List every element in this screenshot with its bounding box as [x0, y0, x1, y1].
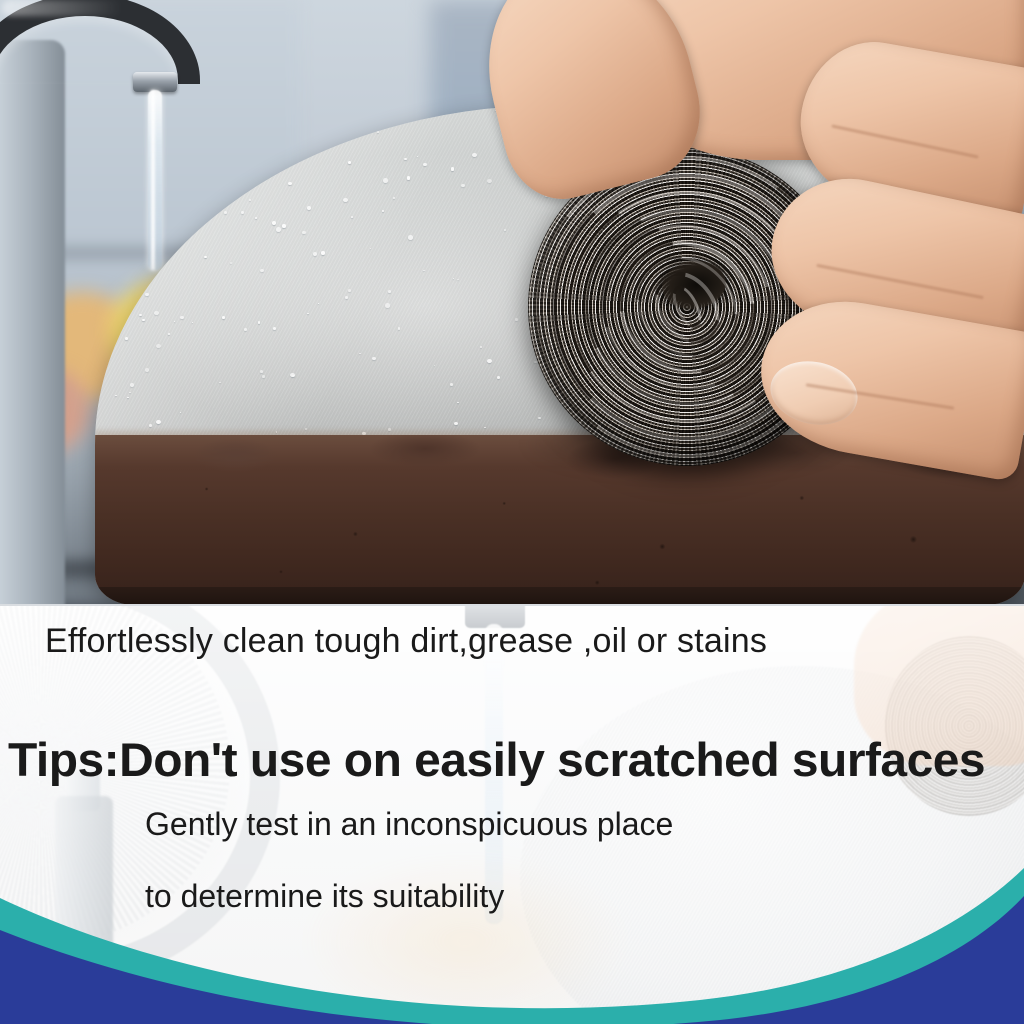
faucet-body — [0, 40, 65, 604]
benefit-text: Effortlessly clean tough dirt,grease ,oi… — [45, 622, 767, 661]
thumb — [465, 0, 715, 211]
hand-holding-scrubber — [470, 0, 1024, 510]
tips-heading-text: Tips:Don't use on easily scratched surfa… — [8, 732, 985, 787]
product-image-canvas: Effortlessly clean tough dirt,grease ,oi… — [0, 0, 1024, 1024]
faucet-spout — [133, 72, 177, 92]
product-demo-photo — [0, 0, 1024, 604]
advice-text-line-1: Gently test in an inconspicuous place — [145, 806, 673, 843]
pan-bottom-shadow — [95, 587, 1024, 604]
advice-text-line-2: to determine its suitability — [145, 878, 504, 915]
